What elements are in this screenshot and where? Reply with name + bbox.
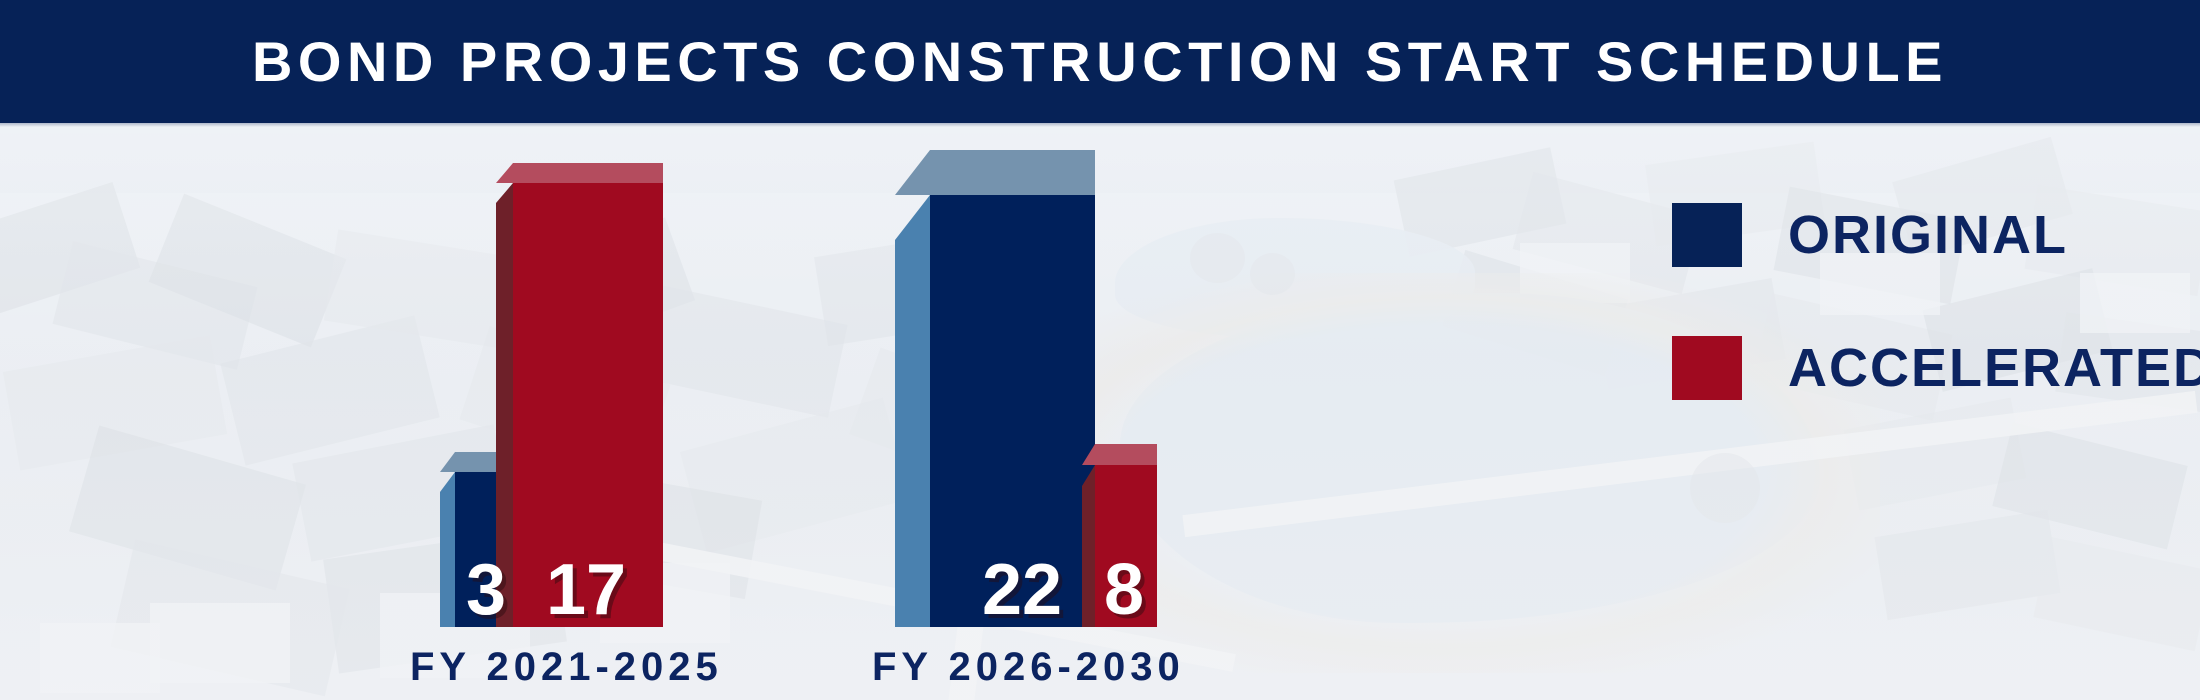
bar-top-face: [895, 150, 1095, 196]
bar-value-fy2021-2025-accelerated: 17: [546, 554, 626, 626]
legend-label-accelerated: ACCELERATED: [1788, 337, 2200, 399]
legend-item-original[interactable]: ORIGINAL: [1672, 203, 2068, 267]
bar-side-face: [895, 195, 930, 627]
title-bar: BOND PROJECTS CONSTRUCTION START SCHEDUL…: [0, 0, 2200, 123]
legend-item-accelerated[interactable]: ACCELERATED: [1672, 336, 2200, 400]
bar-side-face: [1082, 465, 1095, 627]
infographic-canvas: BOND PROJECTS CONSTRUCTION START SCHEDUL…: [0, 0, 2200, 700]
navy-square-icon: [1672, 203, 1742, 267]
bar-value-fy2026-2030-accelerated: 8: [1104, 554, 1144, 626]
bar-top-face: [496, 163, 663, 184]
crimson-square-icon: [1672, 336, 1742, 400]
category-label-fy2021-2025: FY 2021-2025: [410, 645, 723, 690]
legend-label-original: ORIGINAL: [1788, 204, 2068, 266]
bar-value-fy2026-2030-original: 22: [982, 554, 1062, 626]
category-label-fy2026-2030: FY 2026-2030: [872, 645, 1185, 690]
page-title: BOND PROJECTS CONSTRUCTION START SCHEDUL…: [252, 29, 1948, 94]
bar-side-face: [440, 472, 455, 627]
title-bar-shadow: [0, 123, 2200, 127]
bar-value-fy2021-2025-original: 3: [466, 554, 506, 626]
bar-top-face: [1082, 444, 1157, 466]
